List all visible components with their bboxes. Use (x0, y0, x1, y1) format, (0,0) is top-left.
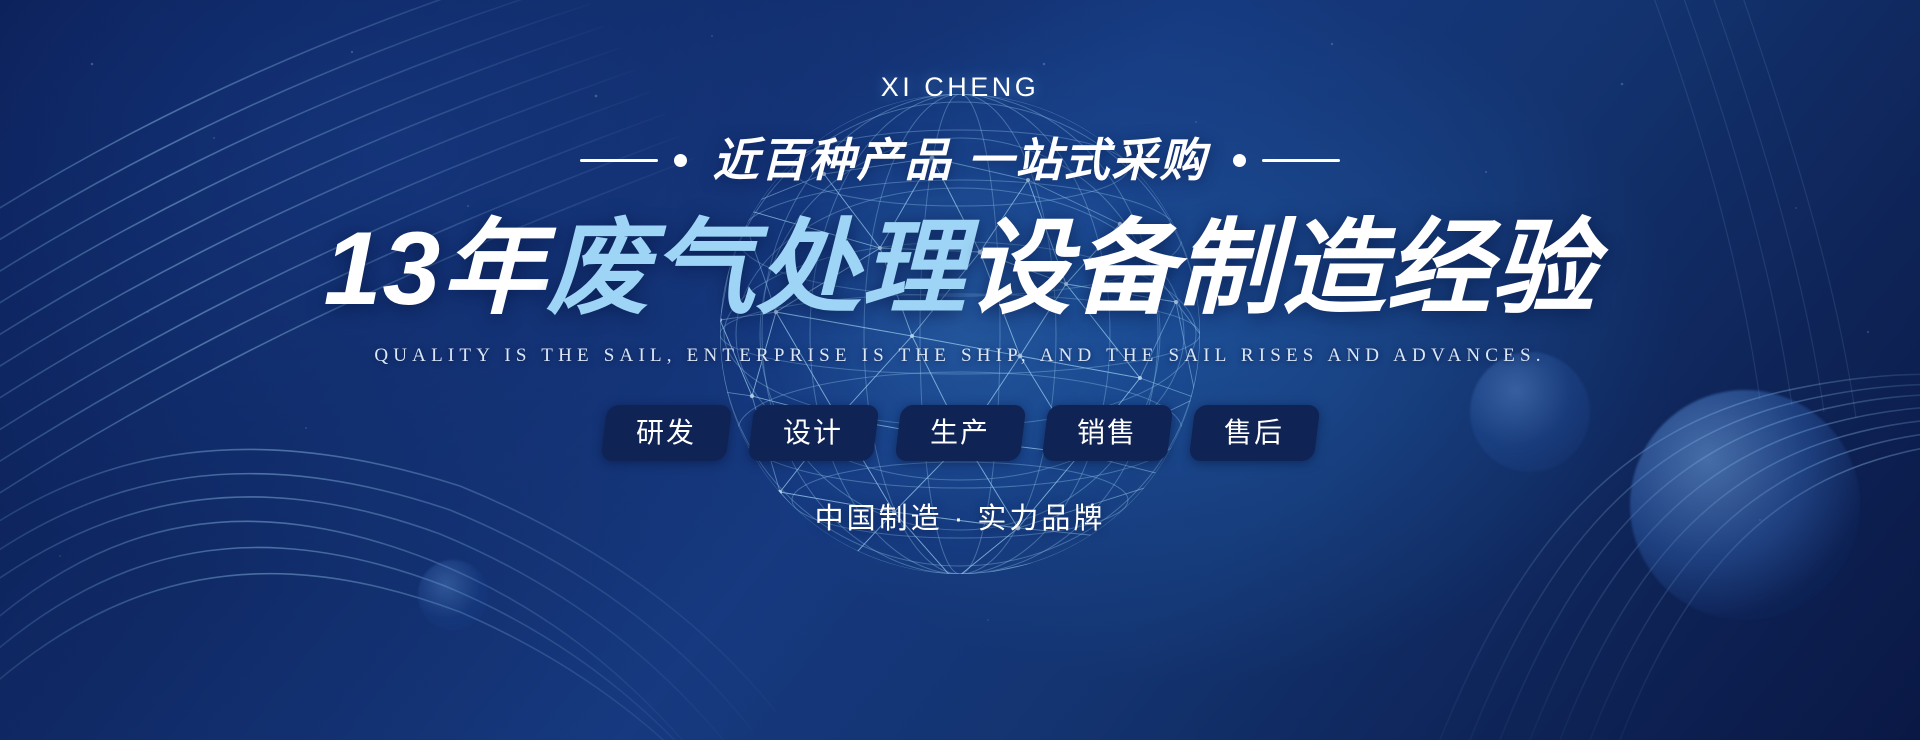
hero-banner: XI CHENG 近百种产品 一站式采购 13年废气处理设备制造经验 QUALI… (0, 0, 1920, 740)
subheadline: 近百种产品 一站式采购 (713, 137, 1208, 183)
service-pill-production[interactable]: 生产 (894, 405, 1026, 461)
english-tagline: QUALITY IS THE SAIL, ENTERPRISE IS THE S… (374, 345, 1545, 367)
service-pill-label: 设计 (783, 419, 843, 447)
service-pill-label: 销售 (1077, 419, 1137, 447)
decorative-rule-left (580, 154, 687, 167)
decorative-rule-right (1233, 154, 1340, 167)
subheadline-row: 近百种产品 一站式采购 (580, 137, 1341, 183)
headline-prefix: 13年 (324, 211, 547, 327)
service-pill-sales[interactable]: 销售 (1041, 405, 1173, 461)
headline-suffix: 设备制造经验 (966, 211, 1596, 327)
main-headline: 13年废气处理设备制造经验 (324, 211, 1597, 327)
service-pill-design[interactable]: 设计 (747, 405, 879, 461)
service-pill-label: 研发 (636, 419, 696, 447)
service-pill-rd[interactable]: 研发 (600, 405, 732, 461)
service-pill-label: 售后 (1224, 419, 1284, 447)
service-pill-after-sales[interactable]: 售后 (1188, 405, 1320, 461)
footer-slogan: 中国制造 · 实力品牌 (815, 505, 1106, 534)
service-pill-label: 生产 (930, 419, 990, 447)
headline-accent: 废气处理 (546, 211, 966, 327)
brand-name-en: XI CHENG (881, 74, 1040, 101)
service-pill-list: 研发 设计 生产 销售 售后 (604, 405, 1317, 461)
banner-content: XI CHENG 近百种产品 一站式采购 13年废气处理设备制造经验 QUALI… (0, 0, 1920, 740)
